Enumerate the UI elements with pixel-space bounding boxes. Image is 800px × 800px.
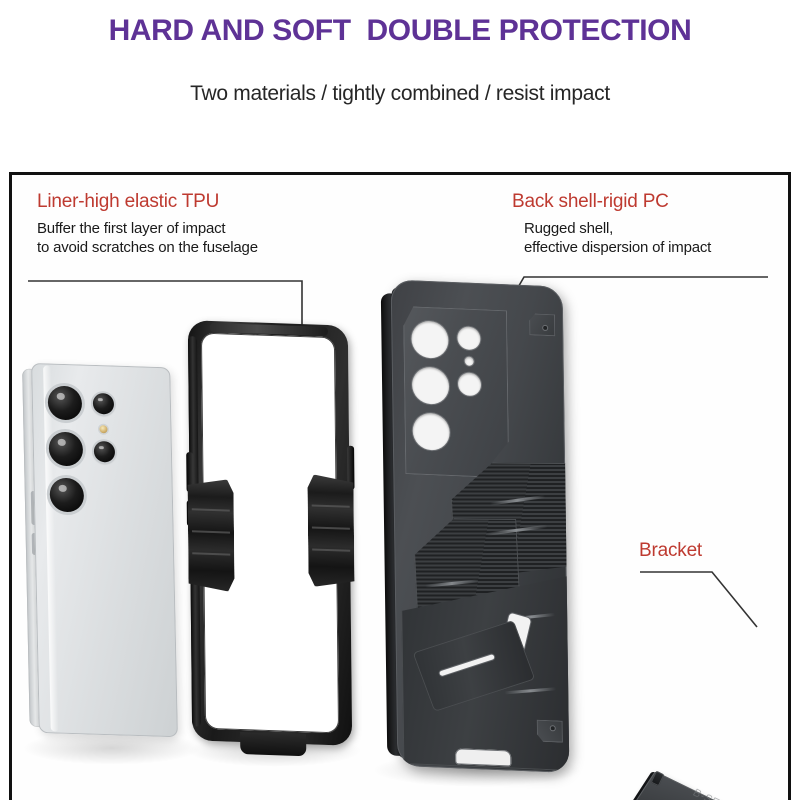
shell-camera-hole-1 xyxy=(411,320,449,359)
liner-grip-bumper-right xyxy=(307,474,354,588)
page-subtitle: Two materials / tightly combined / resis… xyxy=(0,82,800,106)
phone-camera-lens-tele2 xyxy=(93,393,114,415)
liner-grip-bumper-left xyxy=(187,478,234,592)
liner-bottom-tab xyxy=(240,732,306,756)
shell-screw-dot-top xyxy=(543,326,547,330)
kickstand-logo-text: B-SERIES xyxy=(690,787,746,800)
shell-screw-dot-bottom xyxy=(551,726,555,730)
phone-gloss-highlight xyxy=(43,365,59,731)
header: HARD AND SOFT DOUBLE PROTECTION Two mate… xyxy=(0,0,800,172)
phone-flash-led xyxy=(99,425,107,433)
smartphone-device xyxy=(22,363,178,738)
phone-back-panel xyxy=(31,363,178,737)
shell-bottom-port-cutout xyxy=(455,748,511,766)
phone-camera-lens-wide xyxy=(48,385,83,420)
shell-corner-facet-top xyxy=(529,313,555,336)
callout-tpu-title: Liner-high elastic TPU xyxy=(37,191,258,213)
tpu-liner-frame xyxy=(188,320,352,746)
shell-camera-hole-5 xyxy=(458,372,481,396)
callout-pc-desc-line1: Rugged shell, xyxy=(512,220,711,239)
callout-bracket: Bracket xyxy=(639,540,702,562)
shell-back-panel xyxy=(391,279,570,773)
pc-back-shell xyxy=(381,279,570,773)
callout-tpu-desc-line2: to avoid scratches on the fuselage xyxy=(37,239,258,258)
shell-flash-hole xyxy=(465,357,474,366)
shell-camera-plate xyxy=(403,306,509,478)
callout-tpu-desc-line1: Buffer the first layer of impact xyxy=(37,220,258,239)
phone-camera-lens-telephoto xyxy=(49,477,84,512)
phone-camera-lens-ultrawide xyxy=(49,431,84,466)
phone-camera-sensor xyxy=(94,441,115,463)
kickstand-plate: B-SERIES xyxy=(655,771,791,800)
shell-camera-hole-2 xyxy=(412,366,450,405)
product-diagram-frame: Liner-high elastic TPU Buffer the first … xyxy=(9,172,791,800)
callout-pc-desc-line2: effective dispersion of impact xyxy=(512,239,711,258)
callout-pc: Back shell-rigid PC Rugged shell, effect… xyxy=(512,191,711,258)
infographic-root: HARD AND SOFT DOUBLE PROTECTION Two mate… xyxy=(0,0,800,800)
callout-bracket-title: Bracket xyxy=(639,540,702,562)
callout-pc-title: Back shell-rigid PC xyxy=(512,191,711,213)
callout-tpu: Liner-high elastic TPU Buffer the first … xyxy=(37,191,258,258)
shell-camera-hole-4 xyxy=(457,326,480,350)
shell-camera-hole-3 xyxy=(412,412,450,451)
page-title: HARD AND SOFT DOUBLE PROTECTION xyxy=(0,14,800,48)
